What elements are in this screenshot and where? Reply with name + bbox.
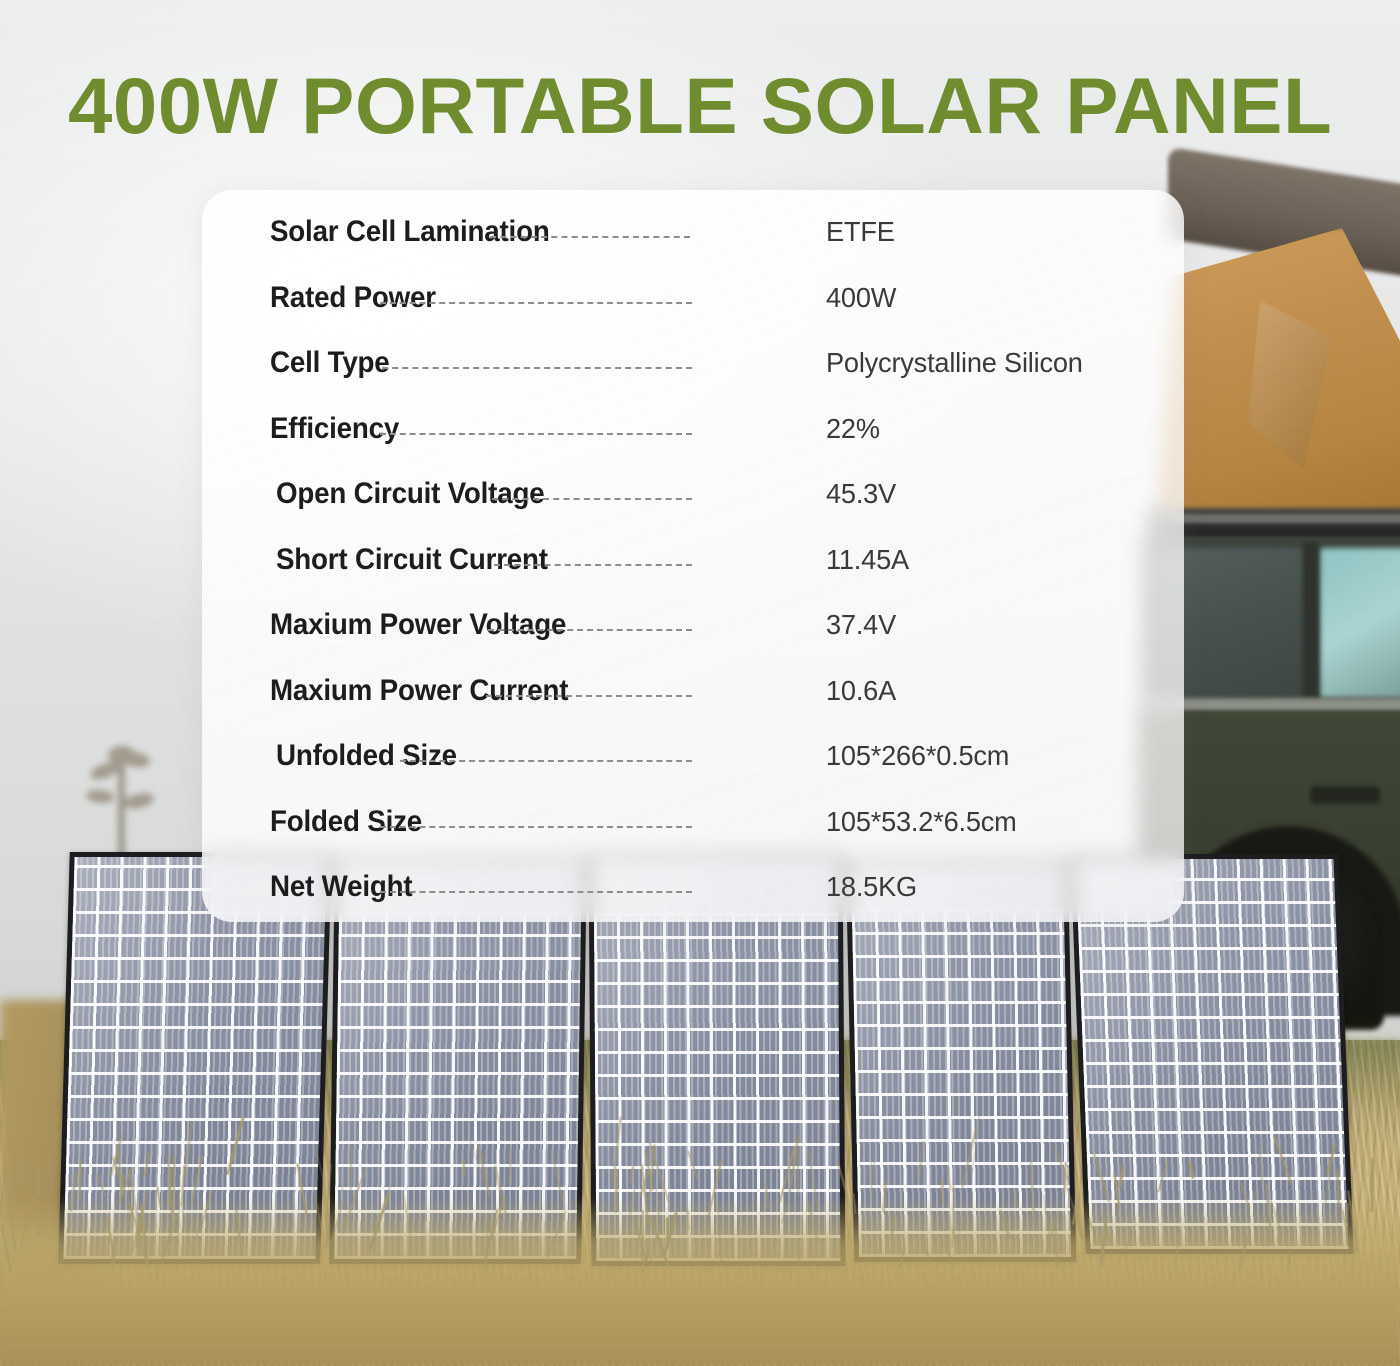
spec-value: 400W: [826, 282, 896, 314]
suv-door-handle: [1310, 786, 1380, 804]
spec-value: 105*53.2*6.5cm: [826, 806, 1017, 838]
spec-label: Net Weight: [270, 870, 412, 904]
spec-label: Maxium Power Current: [270, 674, 568, 708]
spec-row: Maxium Power Voltage37.4V: [202, 595, 1184, 655]
spec-dashed-connector: [380, 891, 692, 893]
spec-row: Cell TypePolycrystalline Silicon: [202, 333, 1184, 393]
spec-value: 11.45A: [826, 544, 909, 576]
spec-label: Unfolded Size: [276, 739, 457, 773]
spec-dashed-connector: [488, 629, 692, 631]
spec-row: Net Weight18.5KG: [202, 857, 1184, 917]
spec-value: 37.4V: [826, 609, 896, 641]
spec-row: Folded Size105*53.2*6.5cm: [202, 792, 1184, 852]
spec-row: Solar Cell LaminationETFE: [202, 202, 1184, 262]
spec-row: Open Circuit Voltage45.3V: [202, 464, 1184, 524]
spec-value: ETFE: [826, 216, 895, 248]
spec-dashed-connector: [382, 367, 692, 369]
spec-label: Rated Power: [270, 281, 436, 315]
spec-label: Short Circuit Current: [276, 543, 548, 577]
spec-row: Maxium Power Current10.6A: [202, 661, 1184, 721]
spec-label: Solar Cell Lamination: [270, 215, 550, 249]
spec-value: 10.6A: [826, 675, 896, 707]
spec-label: Maxium Power Voltage: [270, 608, 566, 642]
spec-value: 18.5KG: [826, 871, 917, 903]
roof-rack-bar: [1158, 514, 1400, 523]
spec-dashed-connector: [490, 236, 690, 238]
spec-list: Solar Cell LaminationETFERated Power400W…: [202, 190, 1184, 922]
spec-value: 105*266*0.5cm: [826, 740, 1009, 772]
spec-row: Unfolded Size105*266*0.5cm: [202, 726, 1184, 786]
spec-dashed-connector: [400, 760, 692, 762]
grass-blade: [940, 1178, 944, 1203]
spec-row: Rated Power400W: [202, 268, 1184, 328]
spec-value: 45.3V: [826, 478, 896, 510]
suv-door-pillar: [1304, 542, 1318, 702]
spec-value: Polycrystalline Silicon: [826, 347, 1083, 379]
spec-dashed-connector: [492, 498, 692, 500]
grass-foreground: [0, 1196, 1400, 1366]
product-marketing-image: 400W PORTABLE SOLAR PANEL Solar Cell Lam…: [0, 0, 1400, 1366]
spec-label: Folded Size: [270, 805, 422, 839]
spec-dashed-connector: [380, 826, 692, 828]
spec-label: Cell Type: [270, 346, 390, 380]
page-title: 400W PORTABLE SOLAR PANEL: [68, 62, 1371, 150]
spec-dashed-connector: [486, 695, 692, 697]
spec-row: Efficiency22%: [202, 399, 1184, 459]
spec-dashed-connector: [380, 433, 692, 435]
spec-dashed-connector: [494, 564, 692, 566]
spec-label: Open Circuit Voltage: [276, 477, 544, 511]
grass-blade: [686, 1209, 689, 1231]
suv-side-window: [1320, 548, 1400, 698]
grass-blade: [349, 1149, 352, 1190]
spec-label: Efficiency: [270, 412, 399, 446]
spec-row: Short Circuit Current11.45A: [202, 530, 1184, 590]
spec-dashed-connector: [380, 302, 692, 304]
spec-value: 22%: [826, 413, 880, 445]
